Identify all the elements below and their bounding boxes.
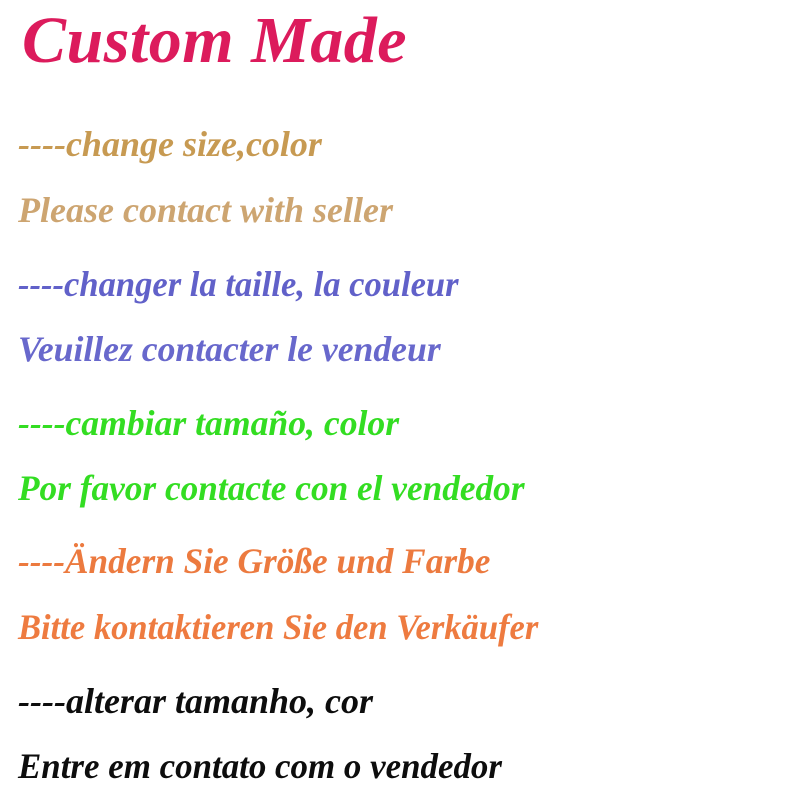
change-line-portuguese: ----alterar tamanho, cor <box>18 683 373 719</box>
change-line-english: ----change size,color <box>18 126 322 162</box>
contact-line-german: Bitte kontaktieren Sie den Verkäufer <box>18 609 538 645</box>
contact-line-french: Veuillez contacter le vendeur <box>18 331 441 367</box>
contact-line-english: Please contact with seller <box>18 192 393 228</box>
change-line-spanish: ----cambiar tamaño, color <box>18 405 399 441</box>
change-line-french: ----changer la taille, la couleur <box>18 266 459 302</box>
contact-line-spanish: Por favor contacte con el vendedor <box>18 470 525 506</box>
page-title: Custom Made <box>22 8 407 74</box>
change-line-german: ----Ändern Sie Größe und Farbe <box>18 543 490 579</box>
custom-made-notice-page: Custom Made ----change size,color Please… <box>0 0 800 800</box>
contact-line-portuguese: Entre em contato com o vendedor <box>18 748 502 784</box>
